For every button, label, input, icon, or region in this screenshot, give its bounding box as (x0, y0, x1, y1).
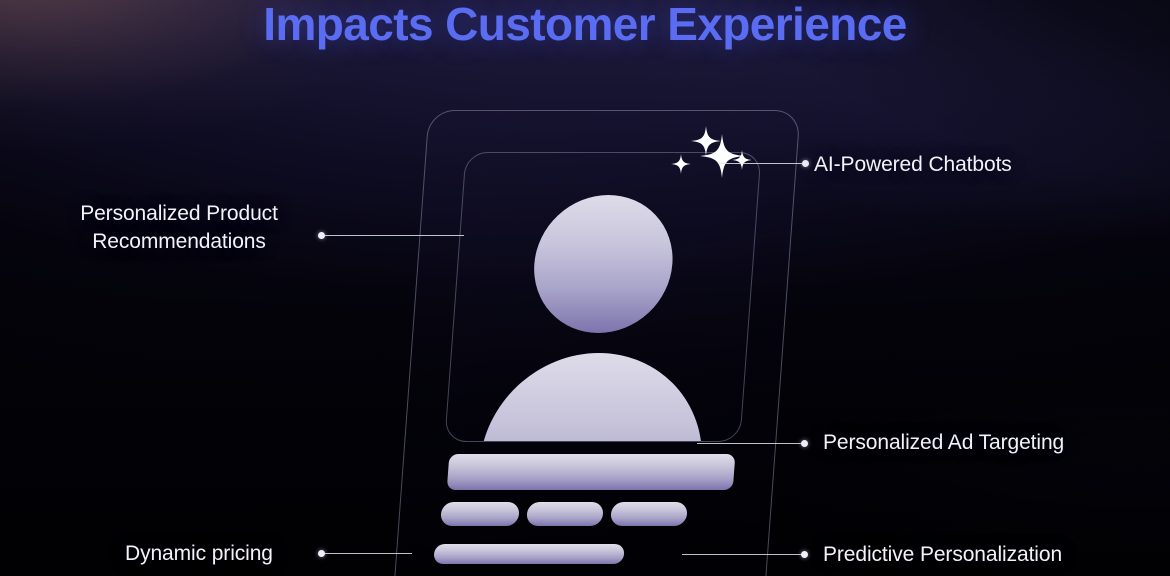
callout-label-dynamic-pricing: Dynamic pricing (125, 540, 273, 568)
sparkle-small-left (671, 154, 691, 174)
connector-dot (802, 160, 809, 167)
connector-line (682, 554, 802, 555)
placeholder-pill-3 (610, 502, 688, 526)
sparkle-small-right (732, 150, 752, 170)
slide-canvas: Impacts Customer Experience (0, 0, 1170, 576)
callout-label-ai-powered-chatbots: AI-Powered Chatbots (814, 151, 1012, 179)
callout-label-predictive-personalization: Predictive Personalization (823, 541, 1062, 569)
placeholder-bar-primary (447, 454, 736, 490)
page-title: Impacts Customer Experience (0, 0, 1170, 52)
placeholder-pill-2 (526, 502, 604, 526)
connector-dot (318, 232, 325, 239)
callout-label-line-2: Recommendations (48, 228, 310, 256)
placeholder-pill-1 (440, 502, 520, 526)
placeholder-bar-secondary (433, 544, 624, 564)
connector-line (718, 163, 803, 164)
connector-line (324, 235, 464, 236)
callout-label-personalized-ad-targeting: Personalized Ad Targeting (823, 429, 1064, 457)
callout-label-personalized-product-recommendations: Personalized Product Recommendations (48, 200, 310, 256)
connector-line (697, 443, 802, 444)
connector-line (324, 553, 412, 554)
connector-dot (801, 440, 808, 447)
user-avatar-head-icon (529, 195, 677, 333)
user-avatar-body-icon (471, 353, 709, 442)
connector-dot (801, 551, 808, 558)
callout-label-line-1: Personalized Product (48, 200, 310, 228)
ai-sparkle-icon (660, 126, 840, 216)
connector-dot (318, 550, 325, 557)
